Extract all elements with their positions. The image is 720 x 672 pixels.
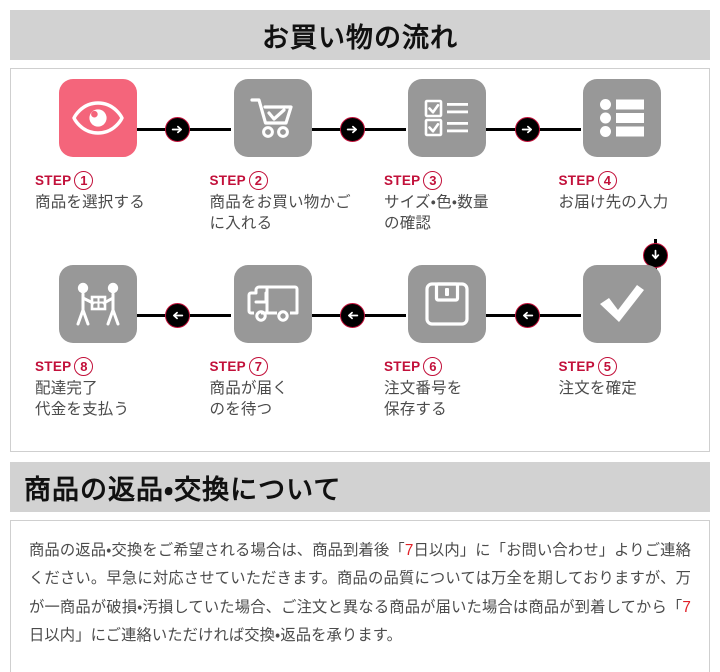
checklist-icon <box>424 99 470 137</box>
step-number: 6 <box>423 357 442 376</box>
arrow-right-icon-3 <box>515 117 540 142</box>
step-4-icon-tile[interactable] <box>583 79 661 157</box>
step-word: STEP <box>210 174 246 188</box>
arrow-left-icon-3 <box>515 303 540 328</box>
eye-icon <box>72 99 124 137</box>
arrow-left-icon-2 <box>340 303 365 328</box>
step-number: 7 <box>249 357 268 376</box>
step-8-caption: 配達完了 代金を支払う <box>35 379 186 421</box>
handover-package-icon <box>72 281 124 327</box>
step-1-icon-tile[interactable] <box>59 79 137 157</box>
step-word: STEP <box>210 360 246 374</box>
flow-step-1[interactable]: STEP 1 商品を選択する <box>11 79 186 265</box>
step-6-caption: 注文番号を 保存する <box>384 379 535 421</box>
step-8-label: STEP 8 <box>35 357 186 376</box>
flow-step-2[interactable]: STEP 2 商品をお買い物かご に入れる <box>186 79 361 265</box>
returns-body-text: 商品の返品・交換をご希望される場合は、商品到着後「7日以内」に「お問い合わせ」よ… <box>29 537 691 650</box>
step-number: 3 <box>423 171 442 190</box>
step-5-icon-tile[interactable] <box>583 265 661 343</box>
step-5-label: STEP 5 <box>559 357 710 376</box>
step-word: STEP <box>35 360 71 374</box>
shopping-cart-icon <box>249 96 297 140</box>
returns-highlight: 7 <box>682 599 691 616</box>
shopping-flow-page: お買い物の流れ <box>0 0 720 672</box>
step-7-caption-block: STEP 7 商品が届く のを待つ <box>186 357 361 421</box>
arrow-left-icon-1 <box>165 303 190 328</box>
step-7-caption: 商品が届く のを待つ <box>210 379 361 421</box>
flow-step-7[interactable]: STEP 7 商品が届く のを待つ <box>186 265 361 451</box>
step-number: 2 <box>249 171 268 190</box>
flow-section-title: お買い物の流れ <box>262 16 458 55</box>
returns-text-run: 商品の返品・交換をご希望される場合は、商品到着後「 <box>29 542 405 559</box>
step-1-caption: 商品を選択する <box>35 193 186 214</box>
flow-step-3[interactable]: STEP 3 サイズ・色・数量 の確認 <box>360 79 535 265</box>
step-number: 4 <box>598 171 617 190</box>
flow-step-5[interactable]: STEP 5 注文を確定 <box>535 265 710 451</box>
checkmark-icon <box>597 283 647 325</box>
step-8-caption-block: STEP 8 配達完了 代金を支払う <box>11 357 186 421</box>
flow-step-8[interactable]: STEP 8 配達完了 代金を支払う <box>11 265 186 451</box>
step-word: STEP <box>384 174 420 188</box>
returns-text-run: 日以内」にご連絡いただければ交換・返品を承ります。 <box>29 627 402 644</box>
flow-row-bottom: STEP 8 配達完了 代金を支払う <box>11 265 709 451</box>
step-5-caption-block: STEP 5 注文を確定 <box>535 357 710 400</box>
step-2-caption: 商品をお買い物かご に入れる <box>210 193 361 235</box>
step-6-icon-tile[interactable] <box>408 265 486 343</box>
step-8-icon-tile[interactable] <box>59 265 137 343</box>
step-3-caption: サイズ・色・数量 の確認 <box>384 193 535 235</box>
step-2-icon-tile[interactable] <box>234 79 312 157</box>
step-3-icon-tile[interactable] <box>408 79 486 157</box>
floppy-disk-save-icon <box>425 282 469 326</box>
step-2-caption-block: STEP 2 商品をお買い物かご に入れる <box>186 171 361 235</box>
step-4-label: STEP 4 <box>559 171 710 190</box>
step-6-label: STEP 6 <box>384 357 535 376</box>
step-word: STEP <box>384 360 420 374</box>
step-word: STEP <box>35 174 71 188</box>
flow-step-4[interactable]: STEP 4 お届け先の入力 <box>535 79 710 265</box>
step-number: 8 <box>74 357 93 376</box>
step-1-label: STEP 1 <box>35 171 186 190</box>
arrow-right-icon-1 <box>165 117 190 142</box>
arrow-right-icon-2 <box>340 117 365 142</box>
step-3-caption-block: STEP 3 サイズ・色・数量 の確認 <box>360 171 535 235</box>
flow-row-top: STEP 1 商品を選択する <box>11 79 709 265</box>
step-number: 1 <box>74 171 93 190</box>
step-2-label: STEP 2 <box>210 171 361 190</box>
returns-text-panel: 商品の返品・交換をご希望される場合は、商品到着後「7日以内」に「お問い合わせ」よ… <box>10 520 710 672</box>
flow-step-6[interactable]: STEP 6 注文番号を 保存する <box>360 265 535 451</box>
step-3-label: STEP 3 <box>384 171 535 190</box>
step-7-icon-tile[interactable] <box>234 265 312 343</box>
step-number: 5 <box>598 357 617 376</box>
returns-section-header: 商品の返品・交換について <box>10 462 710 512</box>
bullet-list-icon <box>599 99 645 137</box>
step-5-caption: 注文を確定 <box>559 379 710 400</box>
step-4-caption-block: STEP 4 お届け先の入力 <box>535 171 710 214</box>
step-4-caption: お届け先の入力 <box>559 193 710 214</box>
step-word: STEP <box>559 360 595 374</box>
step-1-caption-block: STEP 1 商品を選択する <box>11 171 186 214</box>
step-7-label: STEP 7 <box>210 357 361 376</box>
returns-section-title: 商品の返品・交換について <box>24 468 341 507</box>
flow-diagram-panel: STEP 1 商品を選択する <box>10 68 710 452</box>
delivery-truck-icon <box>247 284 299 324</box>
step-word: STEP <box>559 174 595 188</box>
flow-section-header: お買い物の流れ <box>10 10 710 60</box>
step-6-caption-block: STEP 6 注文番号を 保存する <box>360 357 535 421</box>
